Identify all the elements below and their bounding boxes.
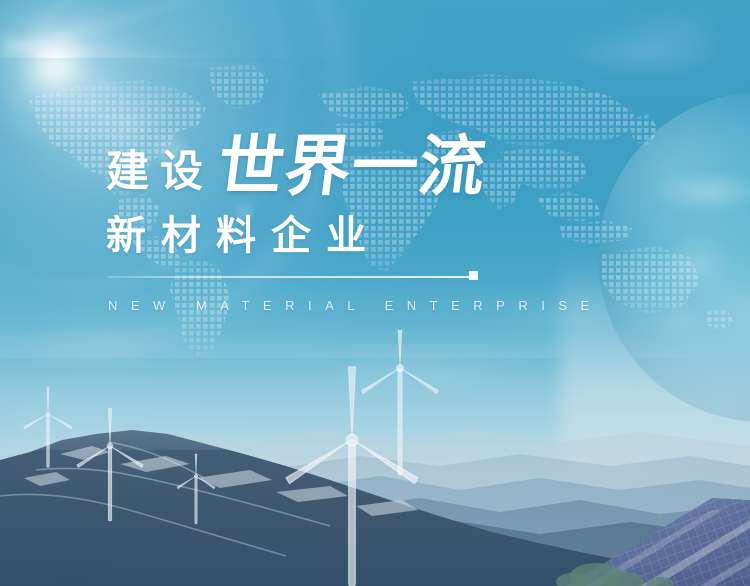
headline-line-2: 新材料企业	[106, 216, 381, 256]
hero-banner: 建设 世界一流 新材料企业 NEW MATERIAL ENTERPRISE	[0, 0, 750, 586]
headline-prefix: 建设	[106, 151, 214, 200]
headline-subtitle: NEW MATERIAL ENTERPRISE	[108, 299, 603, 312]
headline-emphasis: 世界一流	[214, 134, 490, 200]
headline-line-1: 建设 世界一流	[106, 134, 486, 200]
headline-block: 建设 世界一流 新材料企业 NEW MATERIAL ENTERPRISE	[0, 0, 750, 586]
headline-divider	[108, 276, 476, 278]
divider-end-square-icon	[469, 271, 478, 280]
